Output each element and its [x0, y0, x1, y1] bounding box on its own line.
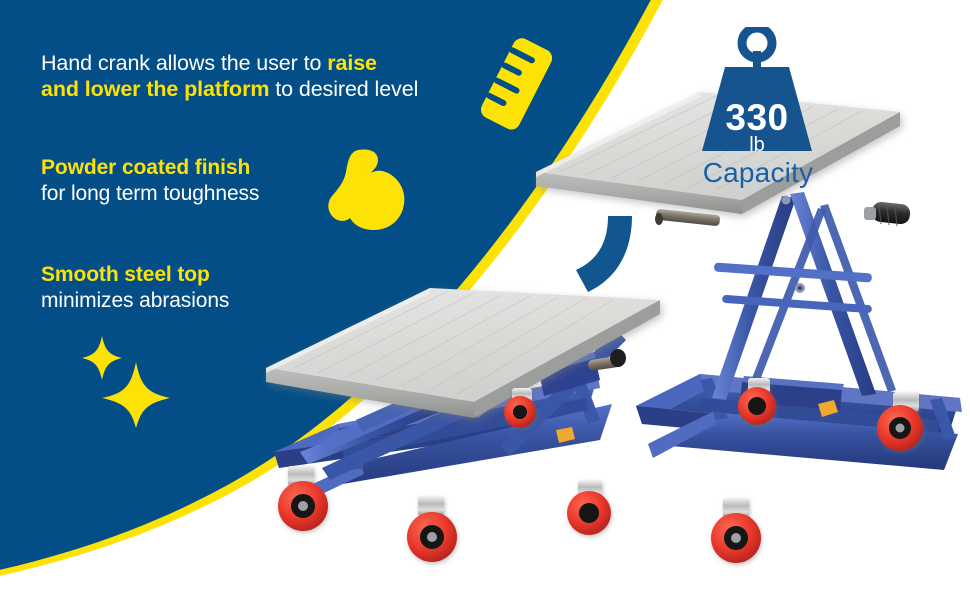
- feature-text: to desired level: [269, 77, 418, 101]
- capacity-badge: 330 lb Capacity: [672, 27, 842, 177]
- hand-crank-shaft: [655, 209, 720, 227]
- capacity-value: 330: [672, 97, 842, 139]
- feature-powder-coated: Powder coated finish for long term tough…: [41, 155, 259, 206]
- feature-emphasis: and lower the platform: [41, 77, 269, 101]
- curved-arrow-icon: [572, 212, 662, 304]
- feature-emphasis: Powder coated finish: [41, 155, 259, 181]
- capacity-unit: lb: [672, 134, 842, 157]
- swivel-caster: [278, 466, 328, 531]
- feature-smooth-steel-top: Smooth steel top minimizes abrasions: [41, 262, 229, 313]
- capacity-label: Capacity: [660, 157, 856, 189]
- swivel-caster: [567, 480, 611, 535]
- feature-text: Hand crank allows the user to: [41, 51, 327, 75]
- infographic-canvas: Hand crank allows the user to raise and …: [0, 0, 970, 600]
- swivel-caster: [711, 498, 761, 563]
- ruler-icon: [462, 28, 572, 138]
- feature-emphasis: Smooth steel top: [41, 262, 229, 288]
- flexed-bicep-icon: [318, 140, 418, 240]
- feature-text: for long term toughness: [41, 181, 259, 207]
- lowered-cart: [266, 288, 660, 562]
- feature-emphasis: raise: [327, 51, 377, 75]
- handle-grip: [864, 201, 911, 226]
- feature-hand-crank: Hand crank allows the user to raise and …: [41, 50, 418, 102]
- feature-text: minimizes abrasions: [41, 288, 229, 314]
- sparkle-icon: [72, 330, 182, 430]
- swivel-caster: [407, 496, 457, 562]
